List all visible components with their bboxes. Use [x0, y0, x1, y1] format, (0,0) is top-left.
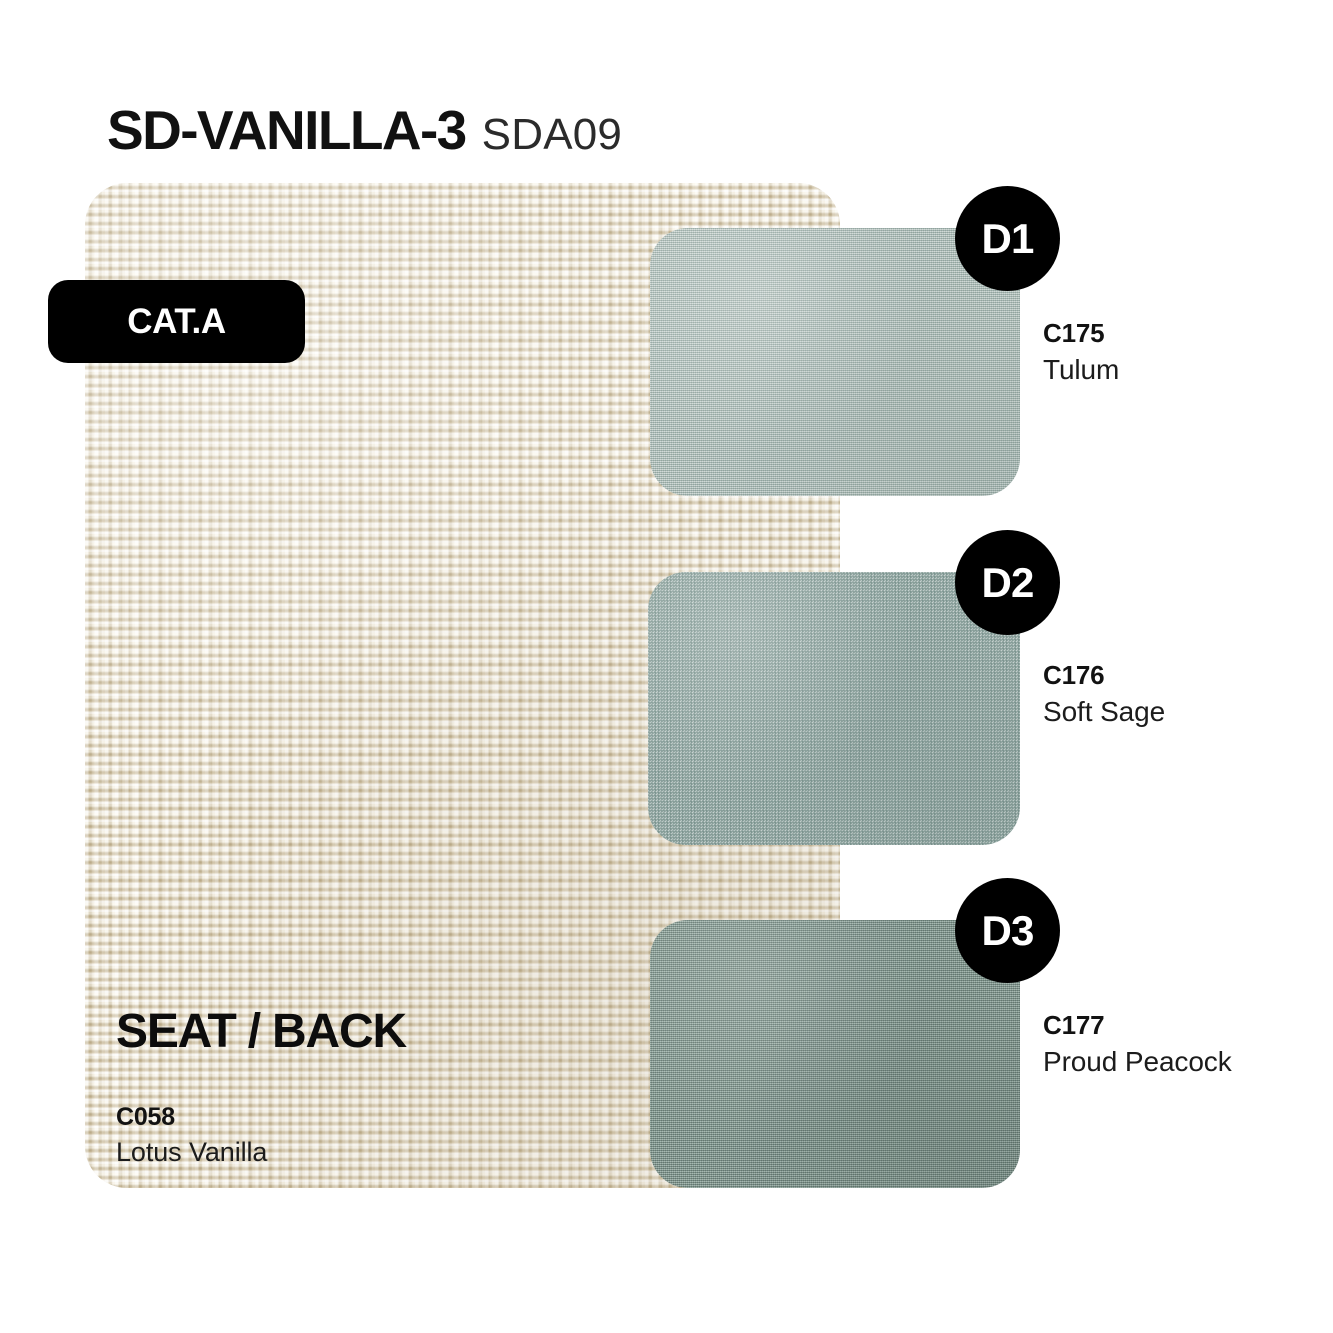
main-color-name: Lotus Vanilla — [116, 1139, 406, 1166]
page-title: SD-VANILLA-3 SDA09 — [107, 103, 622, 158]
swatch-card: SD-VANILLA-3 SDA09 CAT.A SEAT / BACK C05… — [0, 0, 1333, 1333]
accent-caption-d1: C175 Tulum — [1043, 320, 1119, 384]
main-swatch-caption: SEAT / BACK C058 Lotus Vanilla — [116, 1008, 406, 1166]
accent-color-name-d2: Soft Sage — [1043, 698, 1165, 726]
main-color-code: C058 — [116, 1105, 406, 1130]
category-badge-label: CAT.A — [127, 304, 225, 339]
accent-caption-d3: C177 Proud Peacock — [1043, 1012, 1232, 1076]
accent-color-code-d2: C176 — [1043, 662, 1165, 688]
product-title: SD-VANILLA-3 — [107, 103, 466, 158]
marker-badge-d2: D2 — [955, 530, 1060, 635]
main-part-label: SEAT / BACK — [116, 1008, 406, 1056]
accent-caption-d2: C176 Soft Sage — [1043, 662, 1165, 726]
marker-label-d1: D1 — [981, 218, 1033, 260]
product-code: SDA09 — [482, 113, 622, 157]
category-badge: CAT.A — [48, 280, 305, 363]
marker-label-d3: D3 — [981, 910, 1033, 952]
marker-label-d2: D2 — [981, 562, 1033, 604]
accent-color-name-d1: Tulum — [1043, 356, 1119, 384]
accent-color-code-d3: C177 — [1043, 1012, 1232, 1038]
accent-color-name-d3: Proud Peacock — [1043, 1048, 1232, 1076]
marker-badge-d3: D3 — [955, 878, 1060, 983]
marker-badge-d1: D1 — [955, 186, 1060, 291]
accent-color-code-d1: C175 — [1043, 320, 1119, 346]
